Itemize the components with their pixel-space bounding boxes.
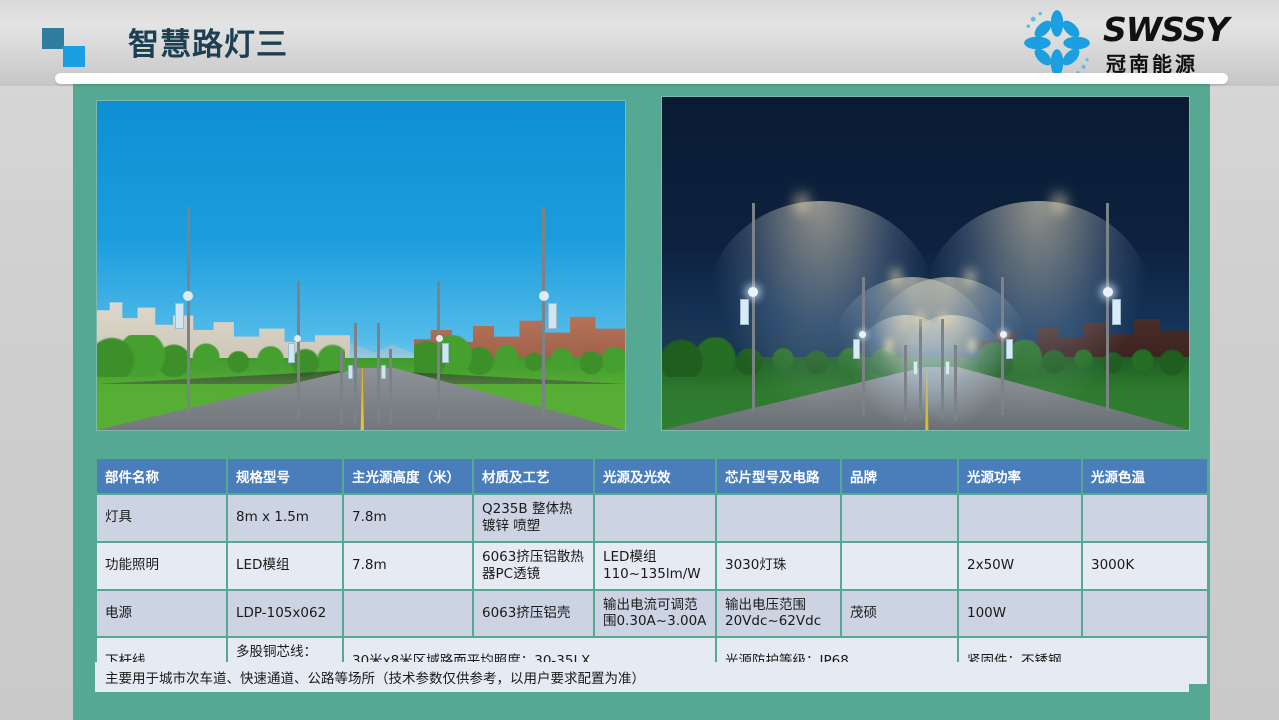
cell-model: LED模组	[228, 543, 342, 589]
table-header-row: 部件名称 规格型号 主光源高度（米） 材质及工艺 光源及光效 芯片型号及电路 品…	[97, 459, 1207, 493]
cell-light-source	[595, 495, 715, 541]
header-divider-bar	[55, 73, 1228, 84]
col-header-material: 材质及工艺	[474, 459, 593, 493]
col-header-chip-circuit: 芯片型号及电路	[717, 459, 840, 493]
decorative-squares	[42, 28, 86, 68]
cell-color-temp	[1083, 495, 1207, 541]
photo-daytime	[96, 100, 626, 431]
col-header-model: 规格型号	[228, 459, 342, 493]
cell-brand	[842, 495, 957, 541]
square-dark-icon	[42, 28, 64, 49]
col-header-part-name: 部件名称	[97, 459, 226, 493]
spec-table-container: 部件名称 规格型号 主光源高度（米） 材质及工艺 光源及光效 芯片型号及电路 品…	[95, 457, 1189, 686]
table-footnote: 主要用于城市次车道、快速通道、公路等场所（技术参数仅供参考，以用户要求配置为准）	[95, 662, 1189, 692]
cell-power: 2x50W	[959, 543, 1081, 589]
square-blue-icon	[63, 46, 85, 67]
col-header-height: 主光源高度（米）	[344, 459, 472, 493]
page-title: 智慧路灯三	[128, 19, 288, 64]
col-header-power: 光源功率	[959, 459, 1081, 493]
cell-light-source: 输出电流可调范围0.30A~3.00A	[595, 591, 715, 637]
cell-power	[959, 495, 1081, 541]
spec-table: 部件名称 规格型号 主光源高度（米） 材质及工艺 光源及光效 芯片型号及电路 品…	[95, 457, 1209, 686]
cell-part-name: 电源	[97, 591, 226, 637]
cell-light-source: LED模组 110~135lm/W	[595, 543, 715, 589]
cell-material: 6063挤压铝散热器PC透镜	[474, 543, 593, 589]
cell-brand	[842, 543, 957, 589]
cell-height: 7.8m	[344, 495, 472, 541]
table-row: 电源 LDP-105x062 6063挤压铝壳 输出电流可调范围0.30A~3.…	[97, 591, 1207, 637]
col-header-color-temp: 光源色温	[1083, 459, 1207, 493]
cell-chip: 输出电压范围20Vdc~62Vdc	[717, 591, 840, 637]
cell-model: LDP-105x062	[228, 591, 342, 637]
cell-height	[344, 591, 472, 637]
table-row: 功能照明 LED模组 7.8m 6063挤压铝散热器PC透镜 LED模组 110…	[97, 543, 1207, 589]
logo-wordmark: SWSSY	[1103, 10, 1228, 49]
trees-left	[662, 337, 904, 377]
trees-left	[97, 335, 345, 378]
cell-power: 100W	[959, 591, 1081, 637]
table-row: 灯具 8m x 1.5m 7.8m Q235B 整体热镀锌 喷塑	[97, 495, 1207, 541]
cell-model: 8m x 1.5m	[228, 495, 342, 541]
water-droplet-logo-icon	[1021, 8, 1093, 78]
cell-material: 6063挤压铝壳	[474, 591, 593, 637]
brand-logo: SWSSY 冠南能源	[1007, 6, 1267, 80]
cell-part-name: 功能照明	[97, 543, 226, 589]
cell-part-name: 灯具	[97, 495, 226, 541]
col-header-light-source: 光源及光效	[595, 459, 715, 493]
cell-color-temp	[1083, 591, 1207, 637]
cell-chip	[717, 495, 840, 541]
cell-brand: 茂硕	[842, 591, 957, 637]
cell-color-temp: 3000K	[1083, 543, 1207, 589]
cell-height: 7.8m	[344, 543, 472, 589]
cell-material: Q235B 整体热镀锌 喷塑	[474, 495, 593, 541]
photo-nighttime	[661, 96, 1190, 431]
cell-chip: 3030灯珠	[717, 543, 840, 589]
col-header-brand: 品牌	[842, 459, 957, 493]
